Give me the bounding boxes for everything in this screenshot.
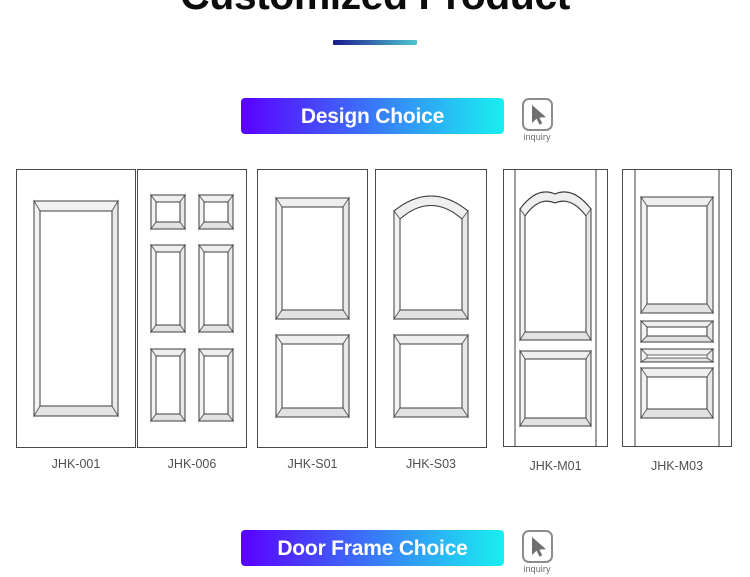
door-design-grid: JHK-001 xyxy=(0,169,750,479)
door-caption: JHK-S01 xyxy=(257,458,368,471)
door-illustration-two-panel xyxy=(257,169,368,448)
inquiry-label: inquiry xyxy=(523,133,550,142)
inquiry-button-design[interactable]: inquiry xyxy=(515,98,559,142)
door-frame-choice-button[interactable]: Door Frame Choice xyxy=(241,530,504,566)
door-illustration-framed-arched xyxy=(503,169,608,450)
cursor-icon[interactable] xyxy=(522,530,553,563)
door-caption: JHK-M03 xyxy=(622,460,732,473)
door-caption: JHK-M01 xyxy=(503,460,608,473)
door-frame-choice-section-header: Door Frame Choice inquiry xyxy=(241,530,559,574)
door-caption: JHK-001 xyxy=(16,458,136,471)
door-illustration-arched-two-panel xyxy=(375,169,487,448)
door-illustration-single-panel xyxy=(16,169,136,448)
inquiry-label: inquiry xyxy=(523,565,550,574)
customized-product-page: Customized Product Design Choice inquiry xyxy=(0,0,750,577)
cursor-icon[interactable] xyxy=(522,98,553,131)
page-title: Customized Product xyxy=(0,0,750,19)
door-caption: JHK-006 xyxy=(137,458,247,471)
title-underline-rule xyxy=(333,40,417,45)
inquiry-button-frame[interactable]: inquiry xyxy=(515,530,559,574)
design-choice-section-header: Design Choice inquiry xyxy=(241,98,559,142)
door-illustration-six-panel xyxy=(137,169,247,448)
door-illustration-framed-multi xyxy=(622,169,732,450)
design-choice-button[interactable]: Design Choice xyxy=(241,98,504,134)
door-caption: JHK-S03 xyxy=(375,458,487,471)
